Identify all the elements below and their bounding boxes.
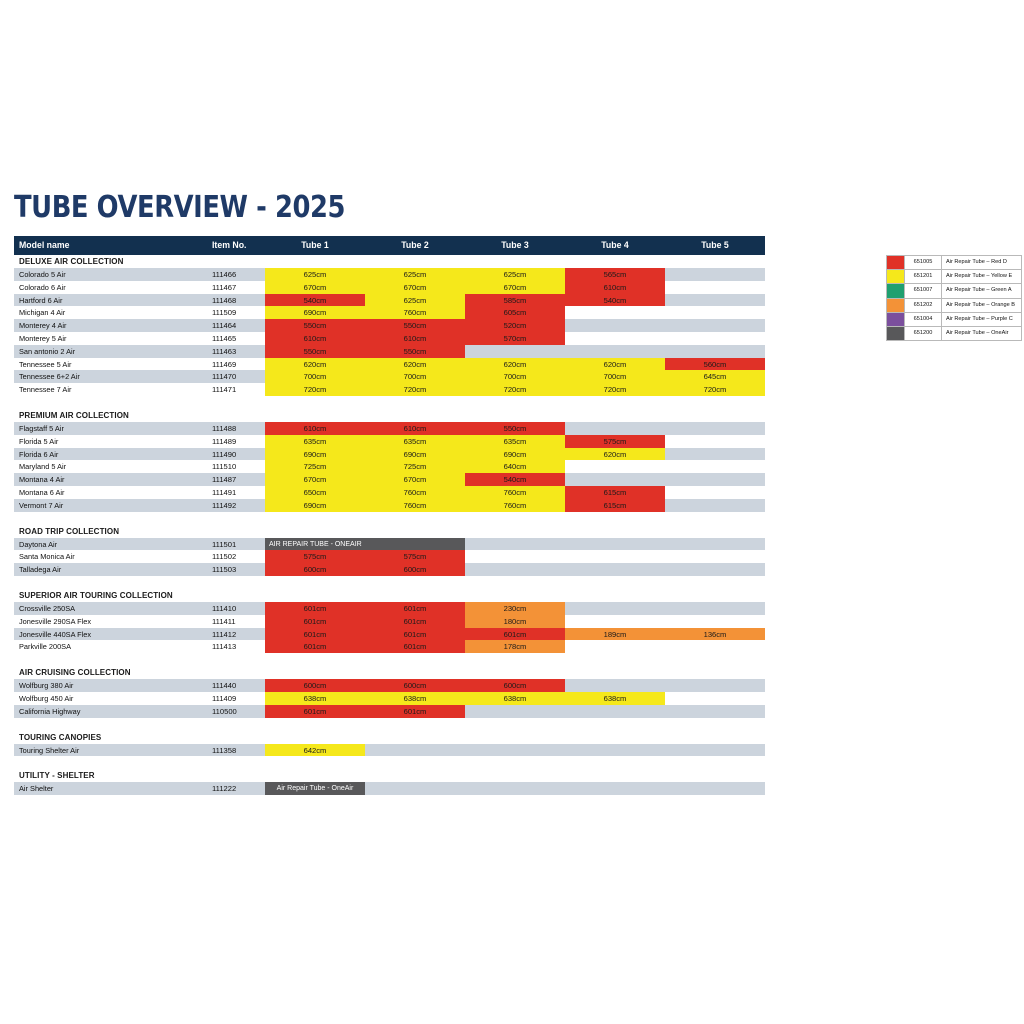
- table-row[interactable]: Monterey 4 Air111464550cm550cm520cm: [14, 319, 765, 332]
- cell-item-no: 111411: [212, 615, 236, 628]
- cell-tube-3-value: 690cm: [465, 448, 565, 461]
- cell-tube-1-value: 638cm: [265, 692, 365, 705]
- legend: 651005Air Repair Tube – Red D651201Air R…: [886, 255, 1022, 341]
- cell-item-no: 111490: [212, 448, 236, 461]
- cell-tube-4-value: 615cm: [565, 499, 665, 512]
- cell-model-name: Wolfburg 450 Air: [19, 692, 73, 705]
- cell-tube-2-value: 600cm: [365, 563, 465, 576]
- legend-swatch-red: [887, 256, 905, 269]
- cell-model-name: California Highway: [19, 705, 80, 718]
- legend-description: Air Repair Tube – Purple C: [942, 313, 1021, 326]
- cell-model-name: Montana 4 Air: [19, 473, 64, 486]
- cell-tube-2-value: 601cm: [365, 640, 465, 653]
- cell-item-no: 111469: [212, 358, 236, 371]
- cell-tube-3-value: 585cm: [465, 294, 565, 307]
- cell-model-name: Monterey 4 Air: [19, 319, 66, 332]
- cell-model-name: Santa Monica Air: [19, 550, 75, 563]
- cell-tube-3-value: 230cm: [465, 602, 565, 615]
- legend-description: Air Repair Tube – Green A: [942, 284, 1021, 297]
- repair-tube-bar-label: Air Repair Tube - OneAir: [265, 782, 365, 795]
- cell-tube-1-value: 600cm: [265, 563, 365, 576]
- cell-tube-1-value: 601cm: [265, 628, 365, 641]
- cell-tube-3-value: 570cm: [465, 332, 565, 345]
- cell-tube-2-value: 725cm: [365, 460, 465, 473]
- cell-item-no: 111465: [212, 332, 236, 345]
- legend-row: 651005Air Repair Tube – Red D: [887, 256, 1021, 270]
- cell-model-name: Florida 6 Air: [19, 448, 58, 461]
- section-title: DELUXE AIR COLLECTION: [14, 255, 765, 268]
- cell-tube-1-value: 690cm: [265, 306, 365, 319]
- cell-tube-2-value: 610cm: [365, 422, 465, 435]
- cell-tube-2-value: 601cm: [365, 628, 465, 641]
- cell-tube-1-value: 690cm: [265, 448, 365, 461]
- legend-swatch-orange: [887, 299, 905, 312]
- cell-tube-2-value: 601cm: [365, 705, 465, 718]
- cell-item-no: 111440: [212, 679, 236, 692]
- cell-model-name: Air Shelter: [19, 782, 53, 795]
- cell-tube-1-value: 601cm: [265, 602, 365, 615]
- cell-tube-4-value: 638cm: [565, 692, 665, 705]
- cell-tube-2-value: 625cm: [365, 294, 465, 307]
- cell-tube-1-value: 670cm: [265, 473, 365, 486]
- cell-item-no: 111463: [212, 345, 236, 358]
- cell-tube-2-value: 670cm: [365, 281, 465, 294]
- cell-tube-1-value: 540cm: [265, 294, 365, 307]
- cell-item-no: 111488: [212, 422, 236, 435]
- legend-item-no: 651201: [905, 270, 942, 283]
- cell-tube-4-value: 620cm: [565, 448, 665, 461]
- cell-model-name: Montana 6 Air: [19, 486, 64, 499]
- cell-tube-2-value: 620cm: [365, 358, 465, 371]
- legend-swatch-green: [887, 284, 905, 297]
- cell-item-no: 111492: [212, 499, 236, 512]
- table-row[interactable]: Crossville 250SA111410601cm601cm230cm: [14, 602, 765, 615]
- table-row[interactable]: Florida 6 Air111490690cm690cm690cm620cm: [14, 448, 765, 461]
- cell-item-no: 111470: [212, 370, 236, 383]
- cell-tube-1-value: 600cm: [265, 679, 365, 692]
- cell-tube-1-value: 690cm: [265, 499, 365, 512]
- table-row[interactable]: AIR REPAIR TUBE - ONEAIRDaytona Air11150…: [14, 538, 765, 551]
- cell-tube-3-value: 605cm: [465, 306, 565, 319]
- column-header-t2: Tube 2: [369, 236, 461, 255]
- cell-item-no: 111413: [212, 640, 236, 653]
- cell-tube-3-value: 178cm: [465, 640, 565, 653]
- cell-tube-2-value: 700cm: [365, 370, 465, 383]
- cell-item-no: 111501: [212, 538, 236, 551]
- table-row[interactable]: Montana 4 Air111487670cm670cm540cm: [14, 473, 765, 486]
- section-spacer: [14, 396, 765, 409]
- table-row[interactable]: Montana 6 Air111491650cm760cm760cm615cm: [14, 486, 765, 499]
- cell-item-no: 111471: [212, 383, 236, 396]
- cell-tube-4-value: 610cm: [565, 281, 665, 294]
- cell-tube-2-value: 638cm: [365, 692, 465, 705]
- legend-item-no: 651202: [905, 299, 942, 312]
- cell-tube-1-value: 700cm: [265, 370, 365, 383]
- cell-model-name: Colorado 6 Air: [19, 281, 66, 294]
- cell-tube-2-value: 760cm: [365, 486, 465, 499]
- table-row[interactable]: Parkville 200SA111413601cm601cm178cm: [14, 640, 765, 653]
- table-row[interactable]: San antonio 2 Air111463550cm550cm: [14, 345, 765, 358]
- legend-row: 651007Air Repair Tube – Green A: [887, 284, 1021, 298]
- cell-tube-1-value: 601cm: [265, 615, 365, 628]
- cell-tube-3-value: 635cm: [465, 435, 565, 448]
- column-header-t3: Tube 3: [469, 236, 561, 255]
- section-title: ROAD TRIP COLLECTION: [14, 525, 765, 538]
- section-title: UTILITY - SHELTER: [14, 769, 765, 782]
- cell-model-name: Parkville 200SA: [19, 640, 71, 653]
- cell-tube-1-value: 601cm: [265, 640, 365, 653]
- section-title: TOURING CANOPIES: [14, 731, 765, 744]
- cell-tube-2-value: 670cm: [365, 473, 465, 486]
- tube-overview-table: Model nameItem No.Tube 1Tube 2Tube 3Tube…: [14, 236, 765, 795]
- cell-item-no: 111489: [212, 435, 236, 448]
- cell-tube-3-value: 760cm: [465, 486, 565, 499]
- cell-model-name: San antonio 2 Air: [19, 345, 75, 358]
- cell-tube-1-value: 620cm: [265, 358, 365, 371]
- legend-item-no: 651200: [905, 327, 942, 340]
- cell-model-name: Michigan 4 Air: [19, 306, 65, 319]
- cell-tube-3-value: 638cm: [465, 692, 565, 705]
- cell-tube-3-value: 550cm: [465, 422, 565, 435]
- cell-item-no: 111222: [212, 782, 236, 795]
- cell-tube-2-value: 550cm: [365, 345, 465, 358]
- cell-tube-2-value: 610cm: [365, 332, 465, 345]
- legend-description: Air Repair Tube – Orange B: [942, 299, 1021, 312]
- cell-tube-1-value: 720cm: [265, 383, 365, 396]
- cell-model-name: Tennessee 6+2 Air: [19, 370, 80, 383]
- cell-tube-1-value: 625cm: [265, 268, 365, 281]
- legend-item-no: 651007: [905, 284, 942, 297]
- cell-tube-2-value: 635cm: [365, 435, 465, 448]
- cell-tube-4-value: 620cm: [565, 358, 665, 371]
- table-row[interactable]: Touring Shelter Air111358642cm: [14, 744, 765, 757]
- cell-tube-1-value: 610cm: [265, 332, 365, 345]
- cell-model-name: Vermont 7 Air: [19, 499, 63, 512]
- cell-model-name: Maryland 5 Air: [19, 460, 66, 473]
- cell-item-no: 111487: [212, 473, 236, 486]
- section-spacer: [14, 756, 765, 769]
- cell-model-name: Wolfburg 380 Air: [19, 679, 73, 692]
- section-title: PREMIUM AIR COLLECTION: [14, 409, 765, 422]
- table-row[interactable]: Tennessee 6+2 Air111470700cm700cm700cm70…: [14, 370, 765, 383]
- column-header-t1: Tube 1: [269, 236, 361, 255]
- cell-item-no: 111467: [212, 281, 236, 294]
- section-spacer: [14, 718, 765, 731]
- cell-tube-1-value: 550cm: [265, 319, 365, 332]
- legend-item-no: 651004: [905, 313, 942, 326]
- legend-swatch-purple: [887, 313, 905, 326]
- cell-tube-4-value: 615cm: [565, 486, 665, 499]
- table-row[interactable]: Santa Monica Air111502575cm575cm: [14, 550, 765, 563]
- column-header-t5: Tube 5: [669, 236, 761, 255]
- table-row[interactable]: Wolfburg 450 Air111409638cm638cm638cm638…: [14, 692, 765, 705]
- cell-tube-1-value: 635cm: [265, 435, 365, 448]
- cell-item-no: 111358: [212, 744, 236, 757]
- table-row[interactable]: Jonesville 440SA Flex111412601cm601cm601…: [14, 628, 765, 641]
- cell-tube-4-value: 540cm: [565, 294, 665, 307]
- cell-tube-2-value: 690cm: [365, 448, 465, 461]
- cell-tube-3-value: 625cm: [465, 268, 565, 281]
- cell-tube-4-value: 720cm: [565, 383, 665, 396]
- cell-tube-1-value: 610cm: [265, 422, 365, 435]
- table-row[interactable]: California Highway110500601cm601cm: [14, 705, 765, 718]
- cell-item-no: 111510: [212, 460, 236, 473]
- cell-tube-3-value: 720cm: [465, 383, 565, 396]
- cell-model-name: Jonesville 440SA Flex: [19, 628, 91, 641]
- cell-item-no: 111468: [212, 294, 236, 307]
- cell-model-name: Jonesville 290SA Flex: [19, 615, 91, 628]
- cell-tube-1-value: 725cm: [265, 460, 365, 473]
- section-title: SUPERIOR AIR TOURING COLLECTION: [14, 589, 765, 602]
- cell-model-name: Tennessee 7 Air: [19, 383, 71, 396]
- cell-tube-3-value: 760cm: [465, 499, 565, 512]
- legend-swatch-gray: [887, 327, 905, 340]
- legend-row: 651201Air Repair Tube – Yellow E: [887, 270, 1021, 284]
- table-row[interactable]: Air Repair Tube - OneAirAir Shelter11122…: [14, 782, 765, 795]
- cell-tube-5-value: 136cm: [665, 628, 765, 641]
- table-row[interactable]: Wolfburg 380 Air111440600cm600cm600cm: [14, 679, 765, 692]
- cell-tube-5-value: 645cm: [665, 370, 765, 383]
- legend-row: 651200Air Repair Tube – OneAir: [887, 327, 1021, 341]
- table-header-row: Model nameItem No.Tube 1Tube 2Tube 3Tube…: [14, 236, 765, 255]
- cell-item-no: 110500: [212, 705, 237, 718]
- cell-model-name: Monterey 5 Air: [19, 332, 66, 345]
- cell-item-no: 111464: [212, 319, 236, 332]
- table-row[interactable]: Monterey 5 Air111465610cm610cm570cm: [14, 332, 765, 345]
- table-row[interactable]: Flagstaff 5 Air111488610cm610cm550cm: [14, 422, 765, 435]
- cell-tube-2-value: 601cm: [365, 615, 465, 628]
- table-row[interactable]: Colorado 6 Air111467670cm670cm670cm610cm: [14, 281, 765, 294]
- cell-item-no: 111412: [212, 628, 236, 641]
- cell-item-no: 111491: [212, 486, 236, 499]
- table-row[interactable]: Florida 5 Air111489635cm635cm635cm575cm: [14, 435, 765, 448]
- cell-tube-3-value: 520cm: [465, 319, 565, 332]
- cell-tube-2-value: 600cm: [365, 679, 465, 692]
- cell-item-no: 111503: [212, 563, 236, 576]
- cell-tube-4-value: 565cm: [565, 268, 665, 281]
- section-spacer: [14, 576, 765, 589]
- cell-tube-3-value: 180cm: [465, 615, 565, 628]
- table-row[interactable]: Tennessee 5 Air111469620cm620cm620cm620c…: [14, 358, 765, 371]
- cell-tube-1-value: 642cm: [265, 744, 365, 757]
- cell-tube-2-value: 720cm: [365, 383, 465, 396]
- cell-model-name: Florida 5 Air: [19, 435, 58, 448]
- cell-item-no: 111409: [212, 692, 236, 705]
- table-body: DELUXE AIR COLLECTIONColorado 5 Air11146…: [14, 255, 765, 795]
- cell-model-name: Hartford 6 Air: [19, 294, 62, 307]
- cell-tube-2-value: 550cm: [365, 319, 465, 332]
- legend-swatch-yellow: [887, 270, 905, 283]
- repair-tube-bar-label: AIR REPAIR TUBE - ONEAIR: [265, 538, 465, 551]
- cell-item-no: 111466: [212, 268, 236, 281]
- table-row[interactable]: Tennessee 7 Air111471720cm720cm720cm720c…: [14, 383, 765, 396]
- cell-tube-5-value: 720cm: [665, 383, 765, 396]
- cell-tube-3-value: 600cm: [465, 679, 565, 692]
- legend-row: 651004Air Repair Tube – Purple C: [887, 313, 1021, 327]
- legend-item-no: 651005: [905, 256, 942, 269]
- cell-tube-3-value: 620cm: [465, 358, 565, 371]
- cell-model-name: Crossville 250SA: [19, 602, 75, 615]
- cell-tube-4-value: 575cm: [565, 435, 665, 448]
- cell-item-no: 111502: [212, 550, 236, 563]
- table-row[interactable]: Colorado 5 Air111466625cm625cm625cm565cm: [14, 268, 765, 281]
- cell-tube-3-value: 670cm: [465, 281, 565, 294]
- cell-tube-2-value: 625cm: [365, 268, 465, 281]
- cell-item-no: 111410: [212, 602, 236, 615]
- legend-description: Air Repair Tube – Yellow E: [942, 270, 1021, 283]
- legend-row: 651202Air Repair Tube – Orange B: [887, 299, 1021, 313]
- cell-model-name: Colorado 5 Air: [19, 268, 66, 281]
- section-title: AIR CRUISING COLLECTION: [14, 666, 765, 679]
- cell-model-name: Flagstaff 5 Air: [19, 422, 64, 435]
- cell-tube-3-value: 540cm: [465, 473, 565, 486]
- cell-tube-1-value: 650cm: [265, 486, 365, 499]
- cell-tube-3-value: 640cm: [465, 460, 565, 473]
- column-header-model: Model name: [19, 236, 70, 255]
- table-row[interactable]: Jonesville 290SA Flex111411601cm601cm180…: [14, 615, 765, 628]
- cell-model-name: Daytona Air: [19, 538, 57, 551]
- cell-tube-4-value: 189cm: [565, 628, 665, 641]
- table-row[interactable]: Talladega Air111503600cm600cm: [14, 563, 765, 576]
- cell-tube-5-value: 560cm: [665, 358, 765, 371]
- page-title: TUBE OVERVIEW - 2025: [14, 190, 345, 225]
- section-spacer: [14, 512, 765, 525]
- column-header-t4: Tube 4: [569, 236, 661, 255]
- section-spacer: [14, 653, 765, 666]
- table-row[interactable]: Maryland 5 Air111510725cm725cm640cm: [14, 460, 765, 473]
- cell-model-name: Tennessee 5 Air: [19, 358, 71, 371]
- table-row[interactable]: Vermont 7 Air111492690cm760cm760cm615cm: [14, 499, 765, 512]
- table-row[interactable]: Michigan 4 Air111509690cm760cm605cm: [14, 306, 765, 319]
- cell-tube-3-value: 700cm: [465, 370, 565, 383]
- cell-item-no: 111509: [212, 306, 236, 319]
- cell-tube-1-value: 550cm: [265, 345, 365, 358]
- legend-description: Air Repair Tube – Red D: [942, 256, 1021, 269]
- cell-tube-1-value: 575cm: [265, 550, 365, 563]
- cell-tube-3-value: 601cm: [465, 628, 565, 641]
- legend-description: Air Repair Tube – OneAir: [942, 327, 1021, 340]
- table-row[interactable]: Hartford 6 Air111468540cm625cm585cm540cm: [14, 294, 765, 307]
- cell-model-name: Touring Shelter Air: [19, 744, 79, 757]
- cell-model-name: Talladega Air: [19, 563, 61, 576]
- cell-tube-2-value: 601cm: [365, 602, 465, 615]
- column-header-item: Item No.: [212, 236, 246, 255]
- cell-tube-2-value: 760cm: [365, 306, 465, 319]
- cell-tube-2-value: 760cm: [365, 499, 465, 512]
- cell-tube-4-value: 700cm: [565, 370, 665, 383]
- cell-tube-1-value: 601cm: [265, 705, 365, 718]
- cell-tube-2-value: 575cm: [365, 550, 465, 563]
- cell-tube-1-value: 670cm: [265, 281, 365, 294]
